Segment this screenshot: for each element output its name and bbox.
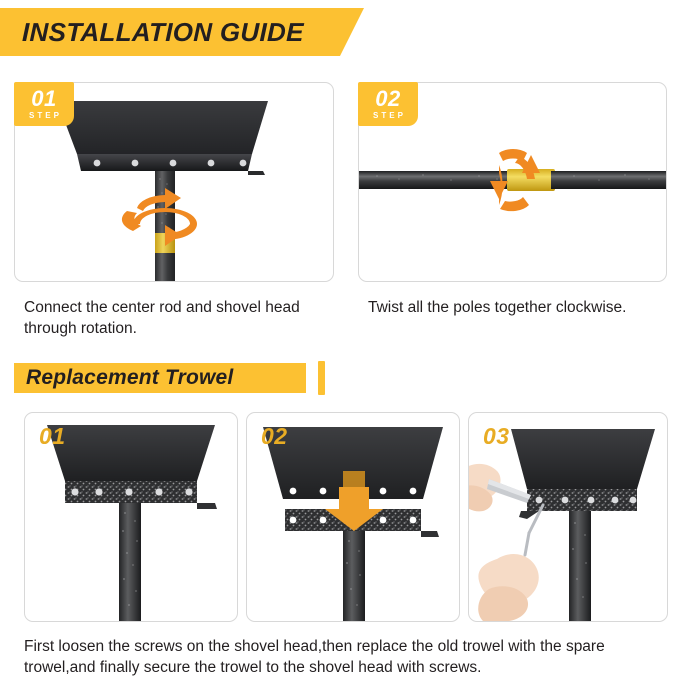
step-label: STEP [373, 112, 406, 120]
replacement-trowel-caption: First loosen the screws on the shovel he… [24, 636, 674, 679]
step-number: 02 [375, 88, 400, 110]
install-step-1-caption: Connect the center rod and shovel head t… [24, 298, 344, 340]
right-hand-icon [478, 554, 539, 621]
install-step-1-panel: 01 STEP [14, 82, 334, 282]
replacement-trowel-heading: Replacement Trowel [14, 363, 306, 393]
replacement-step-1-panel: 01 [24, 412, 238, 622]
install-step-1-badge: 01 STEP [14, 82, 74, 126]
installation-guide-banner: INSTALLATION GUIDE [0, 8, 364, 56]
replacement-step-2-panel: 02 [246, 412, 460, 622]
page-title: INSTALLATION GUIDE [22, 17, 304, 48]
heading-accent-tick [318, 361, 325, 395]
step-label: STEP [29, 112, 62, 120]
replacement-step-2-number: 02 [261, 423, 288, 450]
step-number: 01 [31, 88, 56, 110]
replacement-step-3-panel: 03 [468, 412, 668, 622]
install-step-2-badge: 02 STEP [358, 82, 418, 126]
install-step-2-caption: Twist all the poles together clockwise. [368, 298, 673, 319]
installation-guide-page: INSTALLATION GUIDE [0, 0, 679, 681]
replacement-trowel-title: Replacement Trowel [26, 366, 233, 390]
replacement-step-3-number: 03 [483, 423, 510, 450]
replacement-step-1-number: 01 [39, 423, 66, 450]
install-step-2-panel: 02 STEP [358, 82, 667, 282]
